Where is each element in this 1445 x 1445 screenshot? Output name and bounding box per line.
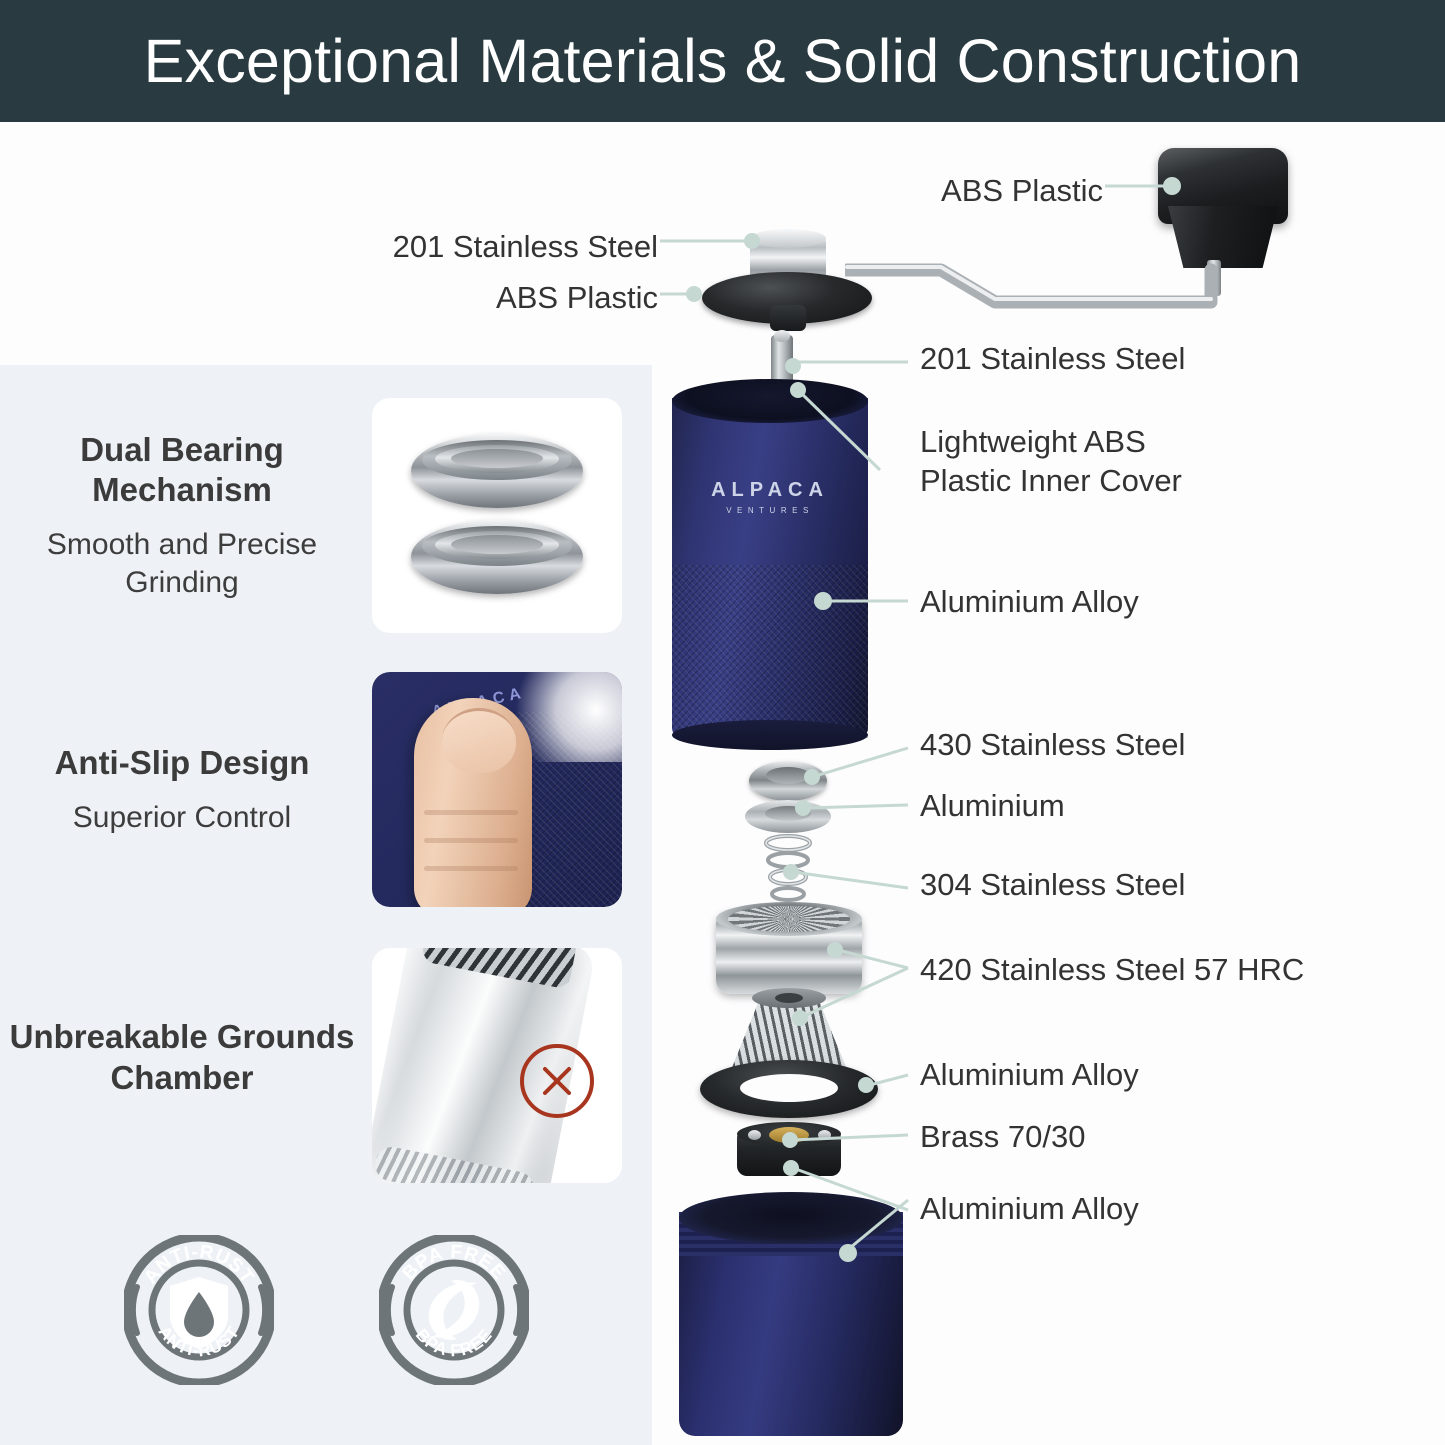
body-bottom-edge — [672, 720, 868, 750]
brass-adjuster-disc — [737, 1128, 841, 1176]
steel-spring-icon — [755, 832, 821, 924]
conical-burr-top — [752, 988, 826, 1008]
infographic-root: Exceptional Materials & Solid Constructi… — [0, 0, 1445, 1445]
bearing-ring-hole — [766, 767, 810, 784]
brass-stud-left — [748, 1130, 761, 1140]
steel-shaft — [771, 335, 793, 409]
feature-subtitle: Superior Control — [0, 799, 364, 837]
brand-logo: ALPACA VENTURES — [672, 480, 868, 515]
callout-430-stainless-steel: 430 Stainless Steel — [920, 726, 1185, 765]
callout-lightweight-abs-inner-cover: Lightweight ABS Plastic Inner Cover — [920, 423, 1182, 501]
knob-stem — [1207, 260, 1221, 296]
feature-block-dual-bearing: Dual Bearing Mechanism Smooth and Precis… — [0, 398, 652, 633]
feature-text-unbreakable: Unbreakable Grounds Chamber — [0, 1017, 372, 1114]
feature-title: Dual Bearing Mechanism — [0, 430, 364, 511]
abs-plastic-disc — [702, 272, 872, 324]
burr-teeth — [728, 906, 850, 932]
crank-steel-cap-top — [750, 229, 826, 248]
callout-aluminium-washer: Aluminium — [920, 787, 1065, 826]
dual-bearing-photo — [372, 398, 622, 633]
bearing-top-icon — [411, 434, 583, 508]
conical-burr-hole — [775, 993, 803, 1003]
bearing-bottom-icon — [411, 520, 583, 594]
aluminium-washer — [745, 800, 831, 833]
steel-shaft-tip — [774, 330, 790, 342]
brass-stud-right — [818, 1130, 831, 1140]
callout-aluminium-alloy-chamber: Aluminium Alloy — [920, 1190, 1139, 1229]
page-title: Exceptional Materials & Solid Constructi… — [144, 26, 1302, 96]
prohibition-x-icon — [520, 1044, 594, 1118]
abs-knob-body — [1168, 206, 1278, 268]
callout-abs-plastic-disc: ABS Plastic — [440, 279, 658, 318]
outer-burr-ring — [716, 910, 862, 994]
thumbnail-icon — [442, 708, 516, 773]
badge-anti-rust: ANTI-RUST ANTI-RUST — [124, 1235, 274, 1385]
callout-201-stainless-steel-shaft: 201 Stainless Steel — [920, 340, 1185, 379]
grounds-chamber — [679, 1246, 903, 1436]
outer-burr-top — [716, 902, 862, 936]
feature-block-anti-slip: Anti-Slip Design Superior Control ALPACA… — [0, 672, 652, 907]
bearing-ring-430 — [749, 761, 827, 801]
callout-aluminium-alloy-ring: Aluminium Alloy — [920, 1056, 1139, 1095]
alloy-ring-hole — [740, 1074, 838, 1102]
callout-aluminium-alloy-body: Aluminium Alloy — [920, 583, 1139, 622]
brass-insert — [769, 1127, 809, 1143]
conical-burr — [727, 994, 851, 1080]
callout-abs-plastic-knob: ABS Plastic — [893, 172, 1103, 211]
brand-name: ALPACA — [672, 480, 868, 500]
crank-steel-cap — [750, 235, 826, 285]
grinder-body — [672, 398, 868, 738]
feature-block-unbreakable: Unbreakable Grounds Chamber — [0, 948, 652, 1183]
callout-201-stainless-steel-cap: 201 Stainless Steel — [303, 228, 658, 267]
thumb-icon — [414, 698, 532, 907]
callout-420-stainless-steel-burr: 420 Stainless Steel 57 HRC — [920, 951, 1304, 990]
body-open-top — [672, 379, 868, 423]
body-knurl-texture — [672, 565, 868, 738]
abs-disc-nub — [770, 305, 806, 331]
chamber-rim — [679, 1192, 903, 1244]
feature-title: Unbreakable Grounds Chamber — [0, 1017, 364, 1098]
crank-arm-icon — [845, 258, 1223, 312]
glass-jar-no-photo — [372, 948, 622, 1183]
badge-bpa-free: BPA FREE BPA FREE — [379, 1235, 529, 1385]
brass-disc-top — [737, 1122, 841, 1146]
callout-304-stainless-steel-spring: 304 Stainless Steel — [920, 866, 1185, 905]
chamber-threads — [679, 1212, 903, 1256]
header-banner: Exceptional Materials & Solid Constructi… — [0, 0, 1445, 122]
feature-text-dual-bearing: Dual Bearing Mechanism Smooth and Precis… — [0, 430, 372, 602]
certification-badges: ANTI-RUST ANTI-RUST — [0, 1235, 652, 1385]
alloy-ring — [700, 1060, 878, 1118]
feature-text-anti-slip: Anti-Slip Design Superior Control — [0, 743, 372, 837]
abs-knob-icon — [1158, 148, 1288, 224]
aluminium-washer-hole — [765, 806, 811, 821]
brand-tagline: VENTURES — [672, 506, 868, 515]
leaf-swirl-icon — [428, 1280, 478, 1340]
feature-subtitle: Smooth and Precise Grinding — [0, 526, 364, 601]
feature-title: Anti-Slip Design — [0, 743, 364, 783]
callout-brass-70-30: Brass 70/30 — [920, 1118, 1085, 1157]
anti-slip-thumb-photo: ALPACAVENTURES — [372, 672, 622, 907]
